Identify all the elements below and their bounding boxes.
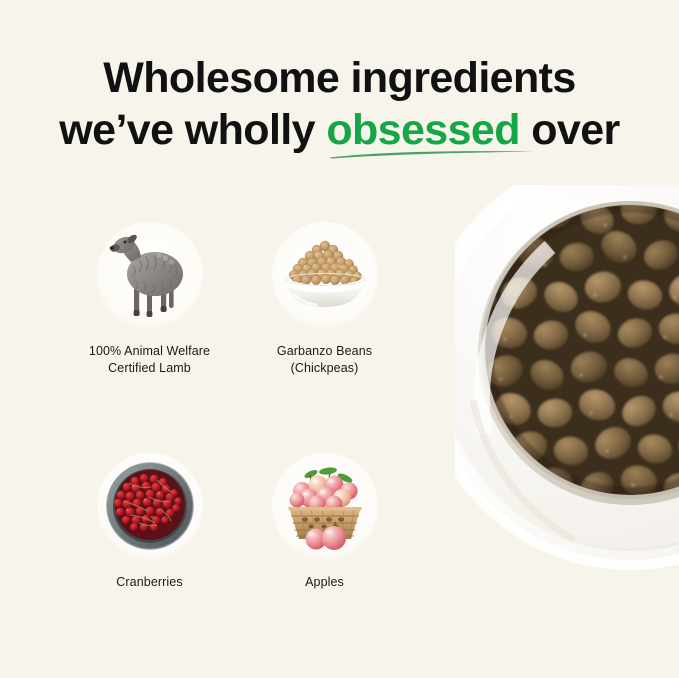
headline-line-1: Wholesome ingredients [0, 52, 679, 104]
ingredient-item-cranberries[interactable]: Cranberries [62, 453, 237, 591]
ingredient-item-lamb[interactable]: 100% Animal Welfare Certified Lamb [62, 222, 237, 377]
ingredient-item-apples[interactable]: Apples [237, 453, 412, 591]
headline-line-2: we’ve wholly obsessed over [0, 104, 679, 156]
headline-line-2-after: over [520, 106, 620, 154]
ingredient-grid: 100% Animal Welfare Certified Lamb [62, 222, 422, 591]
ingredient-row: Cranberries [62, 453, 422, 591]
ingredient-item-garbanzo[interactable]: Garbanzo Beans (Chickpeas) [237, 222, 412, 377]
headline-line-2-before: we’ve wholly [59, 106, 326, 154]
page-headline: Wholesome ingredients we’ve wholly obses… [0, 52, 679, 156]
cranberry-bowl-photo [97, 453, 203, 559]
ingredient-label-garbanzo: Garbanzo Beans (Chickpeas) [277, 343, 372, 377]
apple-basket-photo [272, 453, 378, 559]
chickpea-bowl-photo [272, 222, 378, 328]
ingredient-label-cranberries: Cranberries [116, 574, 182, 591]
dog-food-bowl-photo [455, 185, 679, 605]
sheep-photo [97, 222, 203, 328]
ingredient-label-lamb: 100% Animal Welfare Certified Lamb [89, 343, 210, 377]
headline-accent-word: obsessed [326, 106, 520, 154]
ingredient-row: 100% Animal Welfare Certified Lamb [62, 222, 422, 377]
ingredient-label-apples: Apples [305, 574, 344, 591]
